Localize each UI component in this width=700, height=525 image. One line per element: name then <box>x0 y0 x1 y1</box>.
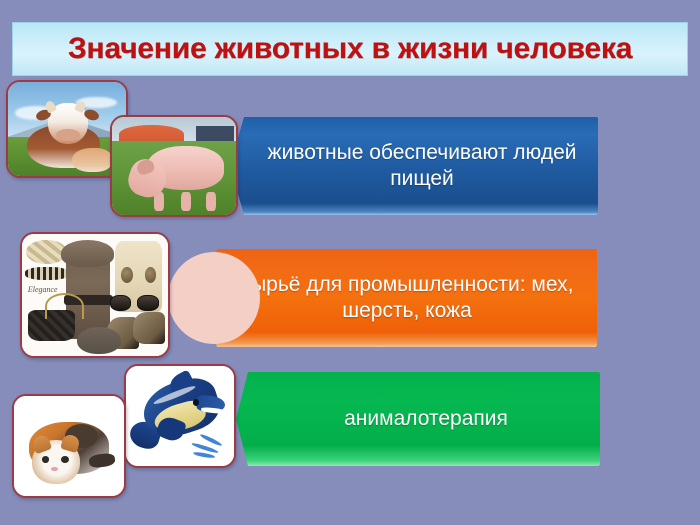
belt <box>25 267 69 280</box>
page-title: Значение животных в жизни человека <box>68 32 632 66</box>
banner-food[interactable]: животные обеспечивают людей пищей <box>230 117 598 215</box>
calf-body <box>72 148 112 172</box>
cat-eye <box>61 456 69 463</box>
cat-eye <box>42 456 50 463</box>
decor-circle <box>168 252 260 344</box>
fur-collar <box>61 240 114 267</box>
banner-raw-materials[interactable]: сырьё для промышленности: мех, шерсть, к… <box>201 249 597 347</box>
pig-scene <box>112 117 236 215</box>
dolphin-scene <box>126 366 234 466</box>
cat-nose <box>51 467 58 471</box>
felt-hat <box>77 327 121 354</box>
cat-scene <box>14 396 124 496</box>
fur-scene: Elegance <box>22 234 168 356</box>
banner-animal-therapy-label: анималотерапия <box>344 406 508 432</box>
earring <box>121 267 133 283</box>
pig-leg <box>206 192 216 212</box>
banner-raw-materials-label: сырьё для промышленности: мех, шерсть, к… <box>235 272 579 323</box>
dolphin-illustration <box>124 364 236 468</box>
banner-animal-therapy[interactable]: анималотерапия <box>236 372 600 466</box>
high-heel-shoe <box>133 312 165 344</box>
sunglasses-icon <box>110 295 160 311</box>
banner-food-label: животные обеспечивают людей пищей <box>264 140 580 191</box>
handbag-strap <box>45 293 84 319</box>
pig-leg <box>181 192 191 212</box>
collage-caption: Elegance <box>28 285 58 294</box>
slide-title-banner: Значение животных в жизни человека <box>12 22 688 76</box>
cow-scene <box>8 82 126 176</box>
pig-photo <box>110 115 238 217</box>
fur-fashion-collage: Elegance <box>20 232 170 358</box>
cat-photo <box>12 394 126 498</box>
earring <box>145 267 157 283</box>
presentation-slide: Значение животных в жизни человека живот… <box>0 0 700 525</box>
